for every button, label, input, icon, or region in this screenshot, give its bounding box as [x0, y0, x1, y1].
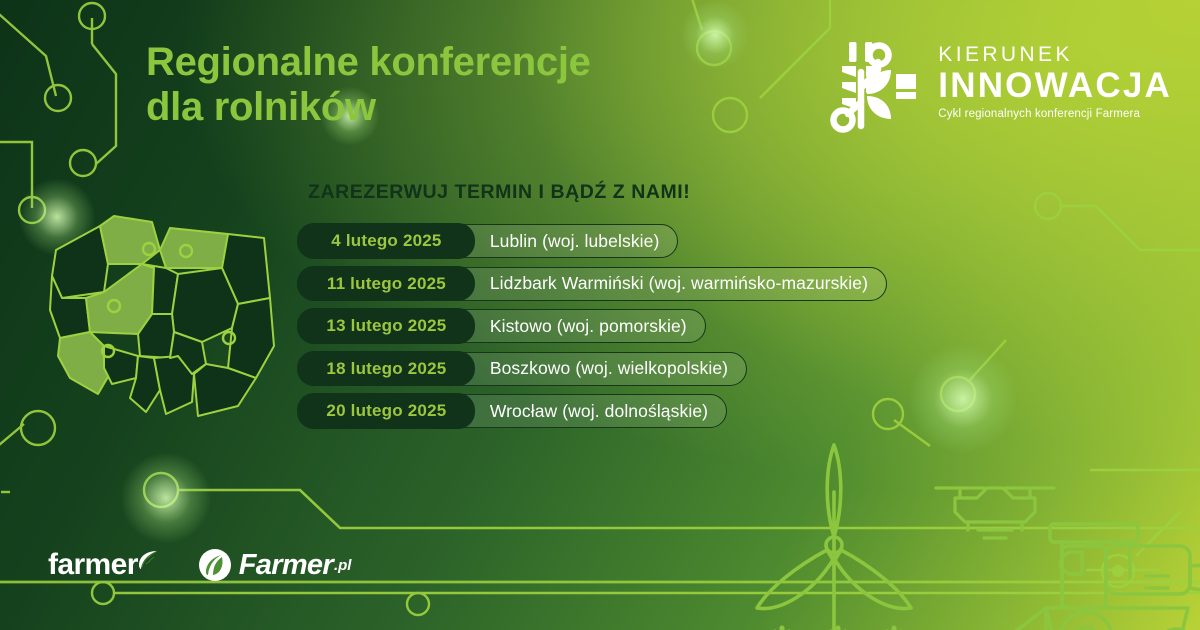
schedule-date: 20 lutego 2025 — [297, 393, 475, 428]
glow-spot — [120, 452, 212, 544]
farmerpl-suffix: .pl — [334, 557, 352, 574]
kierunek-innowacja-logo: KIERUNEK INNOWACJA Cykl regionalnych kon… — [820, 30, 1172, 134]
schedule-row[interactable]: 11 lutego 2025 Lidzbark Warmiński (woj. … — [298, 267, 887, 301]
footer-logos: farmer Farmer .pl — [48, 548, 351, 582]
farmer-wordmark: farmer — [48, 548, 138, 582]
schedule-city: Boszkowo (woj. wielkopolskie) — [474, 353, 746, 385]
schedule-row[interactable]: 20 lutego 2025 Wrocław (woj. dolnośląski… — [298, 394, 727, 428]
leaf-icon — [136, 548, 160, 572]
logo-tagline: Cykl regionalnych konferencji Farmera — [938, 108, 1172, 120]
schedule-row[interactable]: 4 lutego 2025 Lublin (woj. lubelskie) — [298, 224, 678, 258]
schedule-city: Lidzbark Warmiński (woj. warmińsko-mazur… — [474, 268, 886, 300]
combine-harvester-icon — [1002, 524, 1200, 630]
farmerpl-logo[interactable]: Farmer .pl — [198, 548, 352, 582]
wind-turbine-icon — [757, 445, 911, 630]
schedule-row[interactable]: 18 lutego 2025 Boszkowo (woj. wielkopols… — [298, 352, 747, 386]
logo-line-kierunek: KIERUNEK — [938, 44, 1172, 65]
glow-spot — [908, 344, 1018, 454]
schedule-city: Wrocław (woj. dolnośląskie) — [474, 395, 726, 427]
leaf-circle-icon — [198, 548, 232, 582]
farmerpl-wordmark: Farmer — [239, 549, 333, 582]
logo-line-innowacja: INNOWACJA — [938, 68, 1172, 103]
farmer-logo[interactable]: farmer — [48, 548, 160, 582]
promo-banner: Regionalne konferencje dla rolników — [0, 0, 1200, 630]
schedule-list: 4 lutego 2025 Lublin (woj. lubelskie) 11… — [298, 224, 887, 428]
schedule-date: 4 lutego 2025 — [297, 223, 475, 258]
wheat-circuit-icon — [820, 30, 924, 134]
schedule-city: Lublin (woj. lubelskie) — [474, 225, 678, 257]
schedule-date: 11 lutego 2025 — [297, 266, 475, 301]
poland-voivodeship-map — [42, 206, 312, 436]
schedule-row[interactable]: 13 lutego 2025 Kistowo (woj. pomorskie) — [298, 309, 706, 343]
page-title: Regionalne konferencje dla rolników — [146, 40, 766, 130]
schedule-date: 18 lutego 2025 — [297, 351, 475, 386]
drone-icon — [936, 488, 1054, 538]
schedule-date: 13 lutego 2025 — [297, 308, 475, 343]
schedule-city: Kistowo (woj. pomorskie) — [474, 310, 705, 342]
schedule-cta: ZAREZERWUJ TERMIN I BĄDŹ Z NAMI! — [308, 181, 690, 204]
